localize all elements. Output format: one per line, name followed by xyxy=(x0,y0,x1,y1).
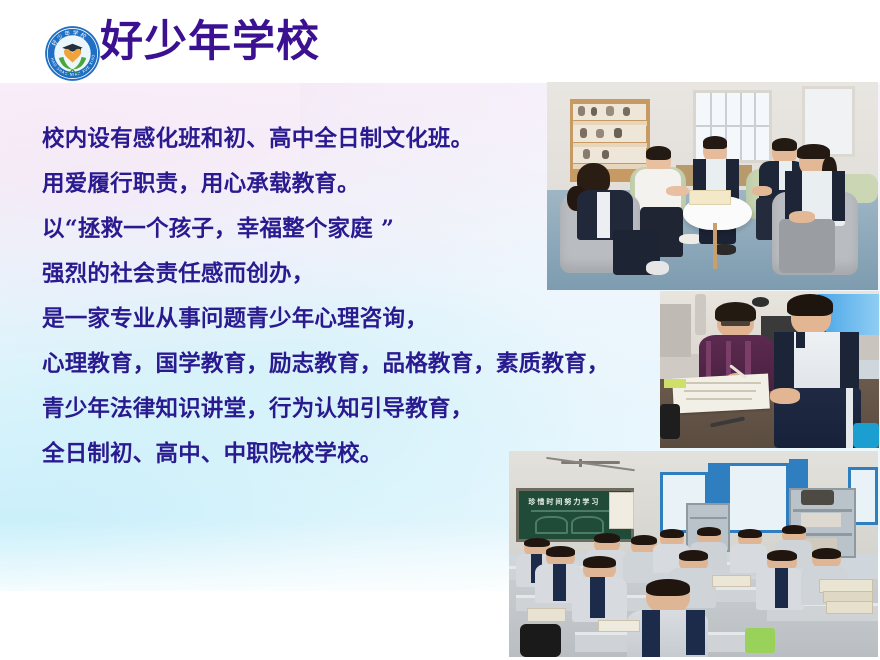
slide-header: 好少年学校 HAO SHAO NIAN XUE XIAO 好少年学校 xyxy=(0,0,880,83)
body-line-3: 以“拯救一个孩子，幸福整个家庭 ” xyxy=(42,218,602,241)
photo-teacher-student-desk xyxy=(660,291,879,448)
body-line-4: 强烈的社会责任感而创办， xyxy=(42,263,602,286)
presentation-slide: 好少年学校 HAO SHAO NIAN XUE XIAO 好少年学校 校内设有感… xyxy=(0,0,880,660)
body-line-5: 是一家专业从事问题青少年心理咨询， xyxy=(42,308,602,331)
photo-classroom-study: 珍惜时间努力学习 xyxy=(509,451,878,657)
photo-group-counseling xyxy=(547,82,878,290)
page-title: 好少年学校 xyxy=(100,16,320,70)
body-line-7: 青少年法律知识讲堂，行为认知引导教育， xyxy=(42,398,602,421)
body-text-block: 校内设有感化班和初、高中全日制文化班。 用爱履行职责，用心承载教育。 以“拯救一… xyxy=(42,128,602,488)
school-logo-icon: 好少年学校 HAO SHAO NIAN XUE XIAO xyxy=(44,25,101,82)
body-line-1: 校内设有感化班和初、高中全日制文化班。 xyxy=(42,128,602,151)
body-line-6: 心理教育，国学教育，励志教育，品格教育，素质教育， xyxy=(42,353,602,376)
body-line-2: 用爱履行职责，用心承载教育。 xyxy=(42,173,602,196)
blackboard-text: 珍惜时间努力学习 xyxy=(528,497,600,507)
